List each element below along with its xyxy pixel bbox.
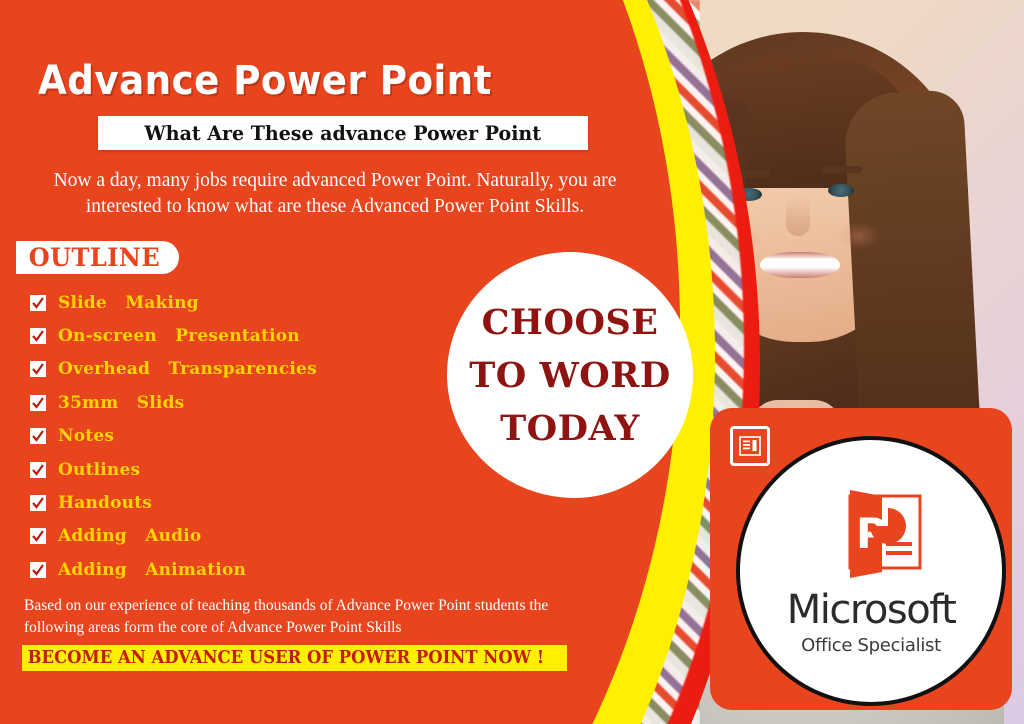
footnote-text: Based on our experience of teaching thou… [24, 595, 594, 640]
checkmark-icon [30, 528, 46, 544]
checkmark-icon [30, 495, 46, 511]
list-item[interactable]: Slide Making [30, 286, 317, 319]
cta-line-1: CHOOSE [482, 305, 659, 340]
badge-certification: Office Specialist [801, 635, 941, 656]
list-item-label: Overhead Transparencies [58, 359, 317, 379]
lead-paragraph: Now a day, many jobs require advanced Po… [20, 168, 650, 221]
cta-line-3: TODAY [500, 411, 640, 446]
badge-circle: P Microsoft Office Specialist [736, 436, 1006, 706]
list-item-label: Outlines [58, 460, 140, 480]
subtitle-box: What Are These advance Power Point [98, 116, 588, 150]
checkmark-icon [30, 428, 46, 444]
poster-canvas: Advance Power Point What Are These advan… [0, 0, 1024, 724]
checkmark-icon [30, 361, 46, 377]
list-item[interactable]: 35mm Slids [30, 386, 317, 419]
list-item-label: Adding Audio [58, 526, 201, 546]
badge-brand: Microsoft [787, 590, 956, 630]
list-item[interactable]: Notes [30, 420, 317, 453]
list-item-label: On-screen Presentation [58, 326, 300, 346]
list-item[interactable]: Handouts [30, 486, 317, 519]
microsoft-office-specialist-badge: P Microsoft Office Specialist [710, 408, 1012, 710]
list-item[interactable]: Adding Audio [30, 520, 317, 553]
list-item-label: Adding Animation [58, 560, 246, 580]
cta-circle-badge: CHOOSE TO WORD TODAY [447, 252, 693, 498]
outline-heading-label: OUTLINE [29, 243, 160, 272]
checkmark-icon [30, 328, 46, 344]
checkmark-icon [30, 562, 46, 578]
list-item[interactable]: Adding Animation [30, 553, 317, 586]
photo-nose [786, 196, 810, 236]
powerpoint-logo-icon: P [812, 486, 930, 582]
list-item-label: Slide Making [58, 293, 199, 313]
list-item-label: Handouts [58, 493, 152, 513]
photo-mouth [760, 252, 840, 278]
cta-line-2: TO WORD [469, 358, 670, 393]
subtitle-text: What Are These advance Power Point [145, 121, 542, 145]
checkmark-icon [30, 462, 46, 478]
cta-banner-text: BECOME AN ADVANCE USER OF POWER POINT NO… [22, 648, 544, 668]
page-title: Advance Power Point [38, 58, 492, 104]
photo-cheek-right [836, 222, 880, 250]
checkmark-icon [30, 395, 46, 411]
powerpoint-slide-icon [730, 426, 770, 466]
photo-eye-right [828, 184, 854, 197]
list-item[interactable]: On-screen Presentation [30, 319, 317, 352]
outline-heading-pill: OUTLINE [16, 241, 179, 274]
cta-banner: BECOME AN ADVANCE USER OF POWER POINT NO… [22, 645, 567, 671]
list-item-label: Notes [58, 426, 114, 446]
list-item[interactable]: Overhead Transparencies [30, 353, 317, 386]
photo-eyebrow-right [822, 166, 862, 173]
checkmark-icon [30, 295, 46, 311]
list-item[interactable]: Outlines [30, 453, 317, 486]
list-item-label: 35mm Slids [58, 393, 184, 413]
outline-checklist: Slide Making On-screen Presentation Over… [30, 286, 317, 587]
